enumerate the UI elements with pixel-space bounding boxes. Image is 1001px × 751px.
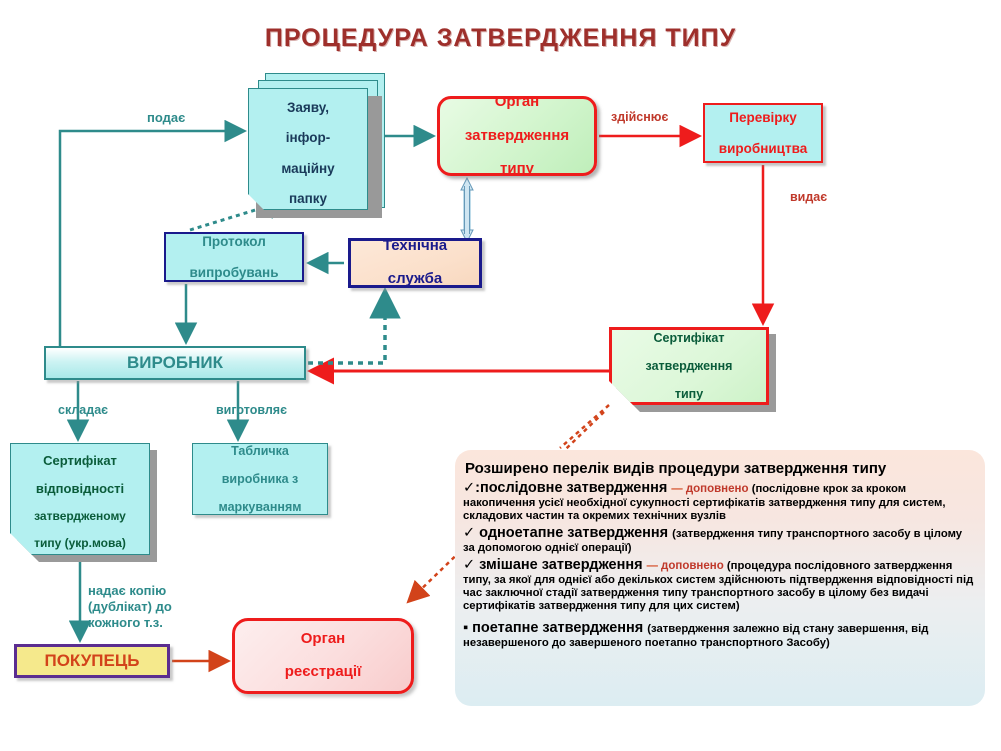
- technical-service-line2: служба: [351, 271, 479, 288]
- info-panel-title: Розширено перелік видів процедури затвер…: [465, 460, 975, 477]
- edge-label-nadaje-kopiyu: надає копію (дублікат) до кожного т.з.: [88, 583, 172, 631]
- technical-service-line1: Технічна: [351, 238, 479, 255]
- edge-label-zdijsnuje: здійснює: [611, 110, 668, 124]
- approval-body-line3: типу: [440, 161, 594, 178]
- cert-conformity-line4: типу (укр.мова): [15, 537, 145, 550]
- edge-manufacturer-to-technical-service-dotted: [308, 294, 385, 363]
- registration-body-line2: реєстрації: [235, 664, 411, 681]
- edge-label-vydaje: видає: [790, 190, 827, 204]
- edge-approval-body-technical-service: [461, 178, 473, 242]
- info-panel: Розширено перелік видів процедури затвер…: [455, 450, 985, 706]
- documents-line2: інфор-: [249, 130, 367, 145]
- buyer-label: ПОКУПЕЦЬ: [17, 651, 167, 670]
- node-documents[interactable]: Заяву, інфор- маційну папку: [248, 88, 368, 210]
- info-bullet-note-2: доповнено: [661, 560, 727, 572]
- info-bullet-0: ✓:послідовне затвердження — доповнено (п…: [463, 480, 975, 523]
- info-bullet-note-0: доповнено: [686, 483, 752, 495]
- documents-line1: Заяву,: [249, 100, 367, 115]
- production-check-line2: виробництва: [705, 141, 821, 156]
- info-bullet-heading-3: ▪ поетапне затвердження: [463, 620, 647, 636]
- node-approval-body[interactable]: Орган затвердження типу: [437, 96, 597, 176]
- plate-line2: виробника з: [193, 472, 327, 486]
- node-production-check[interactable]: Перевірку виробництва: [703, 103, 823, 163]
- info-bullet-2: ✓ змішане затвердження — доповнено (проц…: [463, 557, 975, 613]
- approval-body-line1: Орган: [440, 94, 594, 111]
- info-bullet-dash-2: —: [647, 560, 661, 572]
- cert-approval-line1: Сертифікат: [612, 331, 766, 345]
- node-buyer[interactable]: ПОКУПЕЦЬ: [14, 644, 170, 678]
- test-protocol-line1: Протокол: [166, 234, 302, 249]
- cert-conformity-line2: відповідності: [15, 482, 145, 497]
- plate-line3: маркуванням: [193, 500, 327, 514]
- info-bullet-dash-0: —: [671, 483, 685, 495]
- edge-certificate-to-info-panel-dotted: [520, 402, 612, 455]
- node-technical-service[interactable]: Технічна служба: [348, 238, 482, 288]
- plate-line1: Табличка: [193, 444, 327, 458]
- edge-label-vygotovlyaje: виготовляє: [216, 403, 287, 417]
- node-manufacturer-plate[interactable]: Табличка виробника з маркуванням: [192, 443, 328, 515]
- documents-line3: маційну: [249, 161, 367, 176]
- edge-label-podaje: подає: [147, 110, 185, 125]
- approval-body-line2: затвердження: [440, 128, 594, 145]
- test-protocol-line2: випробувань: [166, 265, 302, 280]
- node-registration-body[interactable]: Орган реєстрації: [232, 618, 414, 694]
- node-cert-conformity[interactable]: Сертифікат відповідності затвердженому т…: [10, 443, 150, 555]
- cert-conformity-line1: Сертифікат: [15, 454, 145, 469]
- cert-approval-line3: типу: [612, 387, 766, 401]
- info-bullet-heading-0: ✓:послідовне затвердження: [463, 480, 671, 496]
- node-cert-approval[interactable]: Сертифікат затвердження типу: [609, 327, 769, 405]
- manufacturer-label: ВИРОБНИК: [46, 353, 304, 372]
- registration-body-line1: Орган: [235, 631, 411, 648]
- info-bullet-heading-1: ✓ одноетапне затвердження: [463, 525, 672, 541]
- info-bullet-3: ▪ поетапне затвердження (затвердження за…: [463, 620, 975, 650]
- info-panel-items: ✓:послідовне затвердження — доповнено (п…: [463, 480, 975, 650]
- info-bullet-heading-2: ✓ змішане затвердження: [463, 557, 647, 573]
- node-test-protocol[interactable]: Протокол випробувань: [164, 232, 304, 282]
- node-manufacturer[interactable]: ВИРОБНИК: [44, 346, 306, 380]
- diagram-canvas: ПРОЦЕДУРА ЗАТВЕРДЖЕННЯ ТИПУ: [0, 0, 1001, 751]
- info-bullet-1: ✓ одноетапне затвердження (затвердження …: [463, 525, 975, 555]
- edge-label-skladaje: складає: [58, 403, 108, 417]
- documents-line4: папку: [249, 191, 367, 206]
- cert-approval-line2: затвердження: [612, 359, 766, 373]
- cert-conformity-line3: затвердженому: [15, 510, 145, 523]
- production-check-line1: Перевірку: [705, 110, 821, 125]
